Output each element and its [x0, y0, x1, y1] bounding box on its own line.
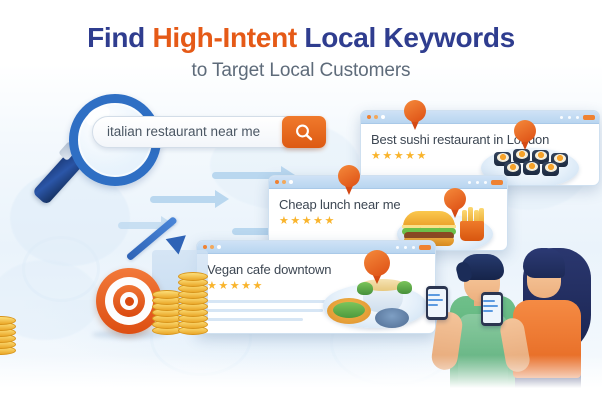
- map-pin-icon: [364, 250, 390, 284]
- greens-icon: [397, 281, 412, 294]
- search-input[interactable]: italian restaurant near me: [107, 117, 260, 147]
- background-ring: [22, 236, 100, 302]
- search-icon: [294, 123, 314, 141]
- window-pill-icon: [491, 180, 503, 185]
- smartphone-icon: [481, 292, 503, 326]
- man-hair: [460, 254, 504, 280]
- window-minidot-icon: [568, 116, 572, 120]
- card-titlebar: [269, 176, 507, 189]
- placeholder-line: [207, 309, 323, 312]
- window-pill-icon: [583, 115, 595, 120]
- window-dot-icon: [282, 180, 286, 184]
- smartphone-icon: [426, 286, 448, 320]
- map-pin-icon: [404, 100, 426, 130]
- card-body: Vegan cafe downtown ★★★★★: [197, 254, 435, 334]
- title-part-high-intent: High-Intent: [152, 22, 296, 53]
- window-dot-icon: [381, 115, 385, 119]
- window-dot-icon: [289, 180, 293, 184]
- sushi-roll-icon: [542, 162, 559, 176]
- page-subtitle: to Target Local Customers: [0, 60, 602, 82]
- window-pill-icon: [419, 245, 431, 250]
- window-minidot-icon: [412, 246, 416, 250]
- card-titlebar: [197, 241, 435, 254]
- placeholder-line: [207, 300, 333, 303]
- card-title: Vegan cafe downtown: [207, 262, 425, 277]
- illustration-banner: Find High-Intent Local Keywords to Targe…: [0, 0, 602, 401]
- placeholder-line: [207, 318, 303, 321]
- window-minidot-icon: [476, 181, 480, 185]
- window-dot-icon: [367, 115, 371, 119]
- sushi-roll-icon: [523, 161, 540, 175]
- window-minidot-icon: [404, 246, 408, 250]
- map-pin-icon: [514, 120, 536, 150]
- window-dot-icon: [217, 245, 221, 249]
- result-card-vegan[interactable]: Vegan cafe downtown ★★★★★: [196, 240, 436, 334]
- window-dot-icon: [275, 180, 279, 184]
- side-dish-icon: [375, 308, 409, 328]
- banner-heading-block: Find High-Intent Local Keywords to Targe…: [0, 22, 602, 82]
- window-minidot-icon: [396, 246, 400, 250]
- search-bar[interactable]: italian restaurant near me: [92, 116, 326, 148]
- search-button[interactable]: [282, 116, 326, 148]
- page-title: Find High-Intent Local Keywords: [0, 22, 602, 53]
- avocado-toast-icon: [327, 298, 371, 324]
- person-woman-with-phone: [505, 244, 597, 401]
- window-minidot-icon: [560, 116, 564, 120]
- card-title: Best sushi restaurant in London: [371, 132, 589, 147]
- window-dot-icon: [203, 245, 207, 249]
- woman-hair-front: [523, 248, 565, 278]
- title-part-local-keywords: Local Keywords: [297, 22, 515, 53]
- window-minidot-icon: [484, 181, 488, 185]
- window-minidot-icon: [468, 181, 472, 185]
- window-minidot-icon: [576, 116, 580, 120]
- card-titlebar: [361, 111, 599, 124]
- window-dot-icon: [210, 245, 214, 249]
- window-dot-icon: [374, 115, 378, 119]
- map-pin-icon: [444, 188, 466, 218]
- title-part-find: Find: [87, 22, 152, 53]
- map-pin-icon: [338, 165, 360, 195]
- sushi-roll-icon: [504, 162, 521, 176]
